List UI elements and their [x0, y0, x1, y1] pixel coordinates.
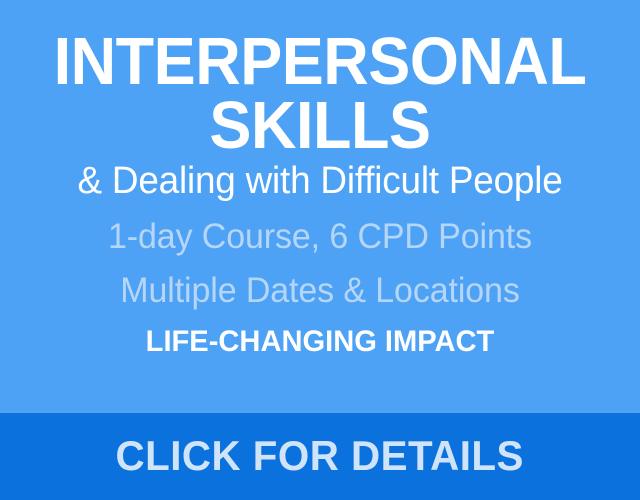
cta-button-label: CLICK FOR DETAILS: [116, 433, 524, 479]
cta-button[interactable]: CLICK FOR DETAILS: [0, 413, 640, 500]
detail-line-dates-locations: Multiple Dates & Locations: [21, 264, 619, 318]
promo-content: INTERPERSONAL SKILLS & Dealing with Diff…: [0, 0, 640, 413]
detail-line-course-info: 1-day Course, 6 CPD Points: [21, 210, 619, 264]
headline-line-2: SKILLS: [30, 94, 609, 158]
advertisement-banner[interactable]: INTERPERSONAL SKILLS & Dealing with Diff…: [0, 0, 640, 500]
subheadline: & Dealing with Difficult People: [21, 158, 619, 204]
headline-line-1: INTERPERSONAL: [30, 30, 609, 94]
headline: INTERPERSONAL SKILLS: [30, 0, 609, 158]
impact-tagline: LIFE-CHANGING IMPACT: [21, 324, 619, 360]
